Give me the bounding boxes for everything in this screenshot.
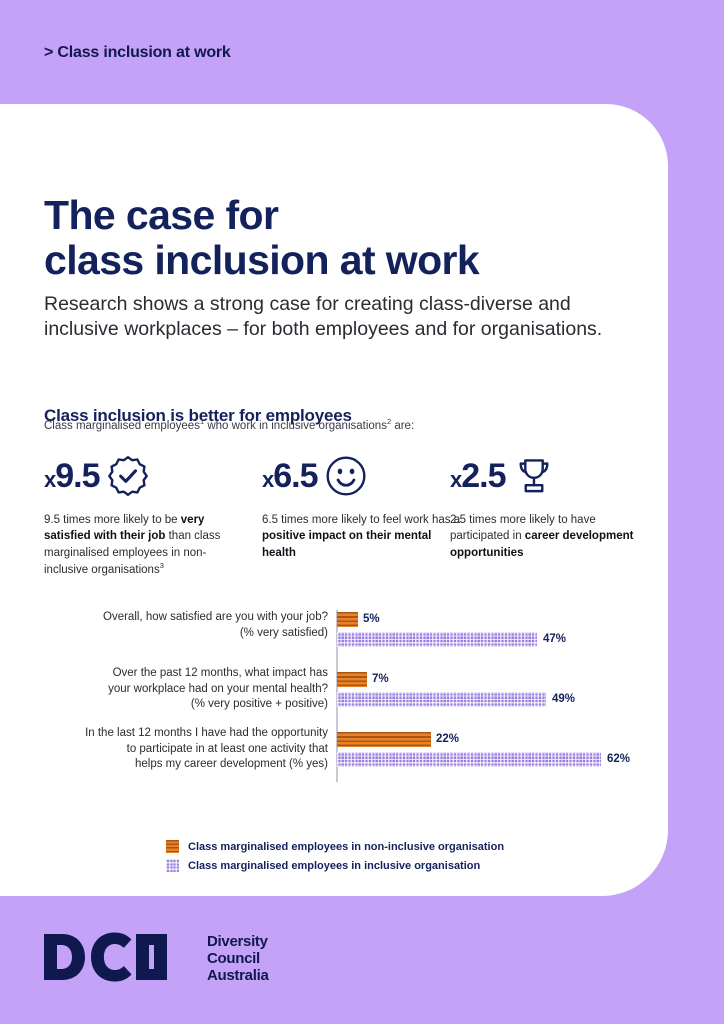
dca-logomark-icon bbox=[44, 932, 196, 987]
stat-headline: x2.5 bbox=[450, 452, 650, 500]
bar-value-label: 49% bbox=[552, 692, 575, 707]
bar-chart: Overall, how satisfied are you with your… bbox=[0, 604, 668, 834]
bar-inclusive bbox=[337, 632, 537, 647]
stat-description-emphasis: positive impact on their mental health bbox=[262, 530, 431, 558]
stat-multiplier: x6.5 bbox=[262, 459, 318, 493]
bar-value-label: 5% bbox=[363, 612, 380, 627]
bar-non-inclusive bbox=[337, 672, 367, 687]
page-title: The case for class inclusion at work bbox=[44, 193, 479, 282]
legend-swatch-orange-icon bbox=[166, 840, 179, 853]
section-subheading-part-c: are: bbox=[391, 420, 414, 432]
stat-description: 2.5 times more likely to have participat… bbox=[450, 512, 650, 561]
bar-value-label: 62% bbox=[607, 752, 630, 767]
footnote-marker-3: 3 bbox=[160, 561, 164, 570]
content-card: The case for class inclusion at work Res… bbox=[0, 104, 668, 896]
section-subheading-part-a: Class marginalised employees bbox=[44, 420, 200, 432]
breadcrumb: > Class inclusion at work bbox=[44, 44, 231, 62]
stat-block-career-development: x2.5 2.5 times more likely to have parti… bbox=[450, 452, 650, 561]
bar-inclusive bbox=[337, 692, 546, 707]
dca-logo-wordmark: Diversity Council Australia bbox=[207, 934, 269, 984]
stat-multiplier-prefix: x bbox=[262, 467, 273, 492]
section-subheading-part-b: who work in inclusive organisations bbox=[204, 420, 387, 432]
stat-description-lead: 9.5 times more likely to be bbox=[44, 514, 181, 526]
stat-description: 9.5 times more likely to be very satisfi… bbox=[44, 512, 244, 578]
chart-category-label: Overall, how satisfied are you with your… bbox=[36, 610, 328, 641]
stat-headline: x6.5 bbox=[262, 452, 462, 500]
bar-non-inclusive bbox=[337, 612, 358, 627]
stat-description: 6.5 times more likely to feel work has a… bbox=[262, 512, 462, 561]
page-subtitle: Research shows a strong case for creatin… bbox=[44, 292, 624, 344]
stat-multiplier-prefix: x bbox=[44, 467, 55, 492]
trophy-icon bbox=[512, 454, 556, 498]
bar-inclusive bbox=[337, 752, 601, 767]
stat-multiplier-prefix: x bbox=[450, 467, 461, 492]
chart-category-label: In the last 12 months I have had the opp… bbox=[36, 726, 328, 773]
legend-swatch-purple-icon bbox=[166, 859, 179, 872]
stat-block-job-satisfaction: x9.5 9.5 times more likely to be very sa… bbox=[44, 452, 244, 578]
bar-value-label: 47% bbox=[543, 632, 566, 647]
legend-item-non-inclusive: Class marginalised employees in non-incl… bbox=[166, 840, 504, 853]
stat-description-lead: 6.5 times more likely to feel work has a bbox=[262, 514, 460, 526]
legend-label: Class marginalised employees in non-incl… bbox=[188, 841, 504, 853]
badge-check-icon bbox=[106, 454, 150, 498]
stat-multiplier-value: 2.5 bbox=[461, 457, 505, 495]
legend-label: Class marginalised employees in inclusiv… bbox=[188, 860, 480, 872]
page-header: > Class inclusion at work bbox=[0, 0, 724, 104]
stat-headline: x9.5 bbox=[44, 452, 244, 500]
stat-multiplier: x2.5 bbox=[450, 459, 506, 493]
stat-multiplier-value: 9.5 bbox=[55, 457, 99, 495]
footer-logo: Diversity Council Australia bbox=[44, 932, 269, 987]
bar-value-label: 22% bbox=[436, 732, 459, 747]
bar-non-inclusive bbox=[337, 732, 431, 747]
stat-multiplier-value: 6.5 bbox=[273, 457, 317, 495]
smiley-face-icon bbox=[324, 454, 368, 498]
chart-legend: Class marginalised employees in non-incl… bbox=[166, 840, 504, 878]
stat-block-mental-health: x6.5 6.5 times more likely to feel work … bbox=[262, 452, 462, 561]
chart-category-label: Over the past 12 months, what impact has… bbox=[36, 666, 328, 713]
stat-multiplier: x9.5 bbox=[44, 459, 100, 493]
bar-value-label: 7% bbox=[372, 672, 389, 687]
legend-item-inclusive: Class marginalised employees in inclusiv… bbox=[166, 859, 504, 872]
section-subheading: Class marginalised employees1 who work i… bbox=[44, 417, 414, 432]
